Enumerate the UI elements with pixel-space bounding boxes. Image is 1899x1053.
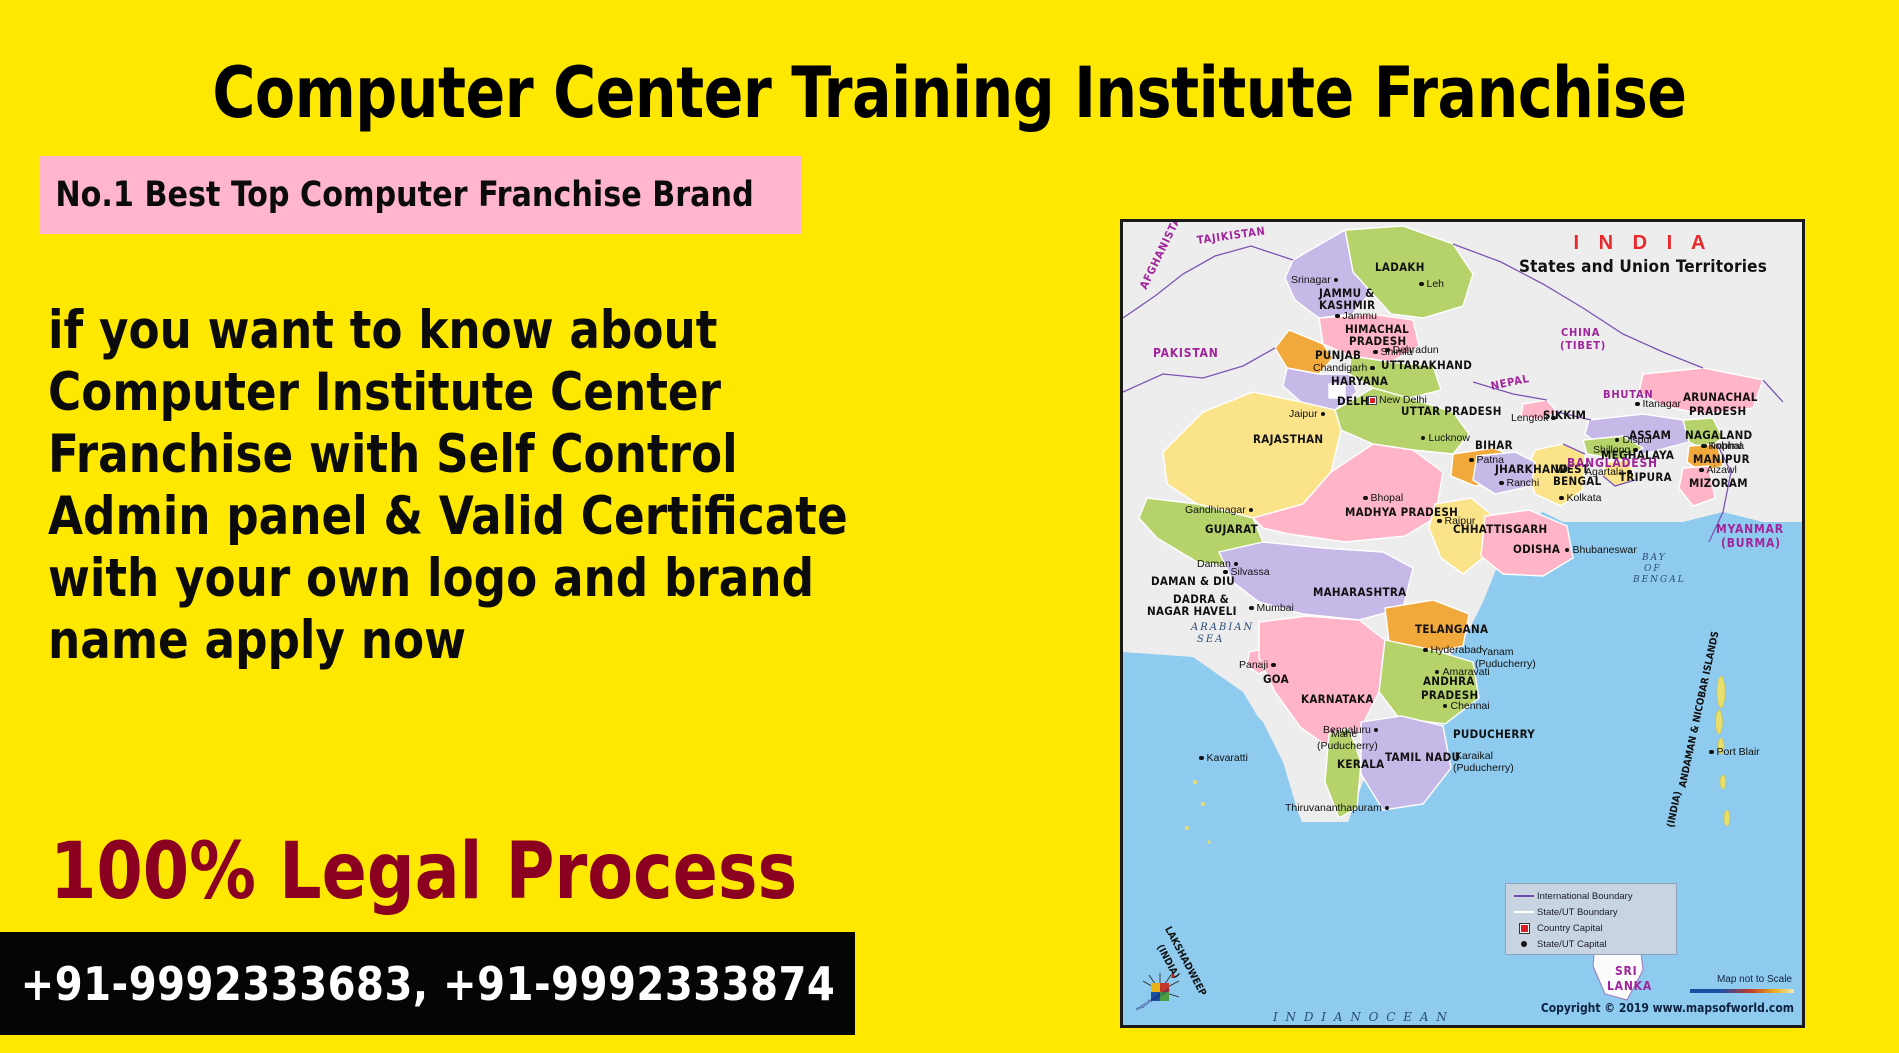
state-ut-capital-marker [1615,438,1620,443]
map-capital-label: Dehradun [1393,344,1439,356]
map-capital-label: Mahe [1331,728,1357,740]
state-ut-capital-marker [1551,416,1556,421]
map-title: I N D I A States and Union Territories [1498,232,1788,277]
map-capital-label: Jammu [1343,310,1377,322]
map-capital-label: Ranchi [1507,477,1540,489]
map-state-label: ODISHA [1513,542,1560,556]
map-capital-label: Kavaratti [1207,752,1248,764]
state-ut-capital-marker [1334,278,1339,283]
map-sea-label: I N D I A N O C E A N [1273,1012,1449,1023]
map-capital: Hyderabad [1423,644,1482,656]
map-capital: Raipur [1437,515,1475,527]
state-ut-capital-marker [1335,314,1340,319]
map-title-subtitle: States and Union Territories [1498,257,1788,277]
map-country-label: PAKISTAN [1153,346,1219,360]
state-ut-capital-marker [1499,481,1504,486]
map-country-label: BHUTAN [1603,388,1654,401]
state-ut-capital-marker [1469,458,1474,463]
state-ut-capital-marker [1435,670,1440,675]
map-state-label: PRADESH [1689,404,1746,418]
legend-label: International Boundary [1537,891,1633,902]
map-capital: Aizawl [1699,464,1737,476]
state-boundary-icon [1511,911,1537,913]
legend-item-international-boundary: International Boundary [1511,888,1671,904]
map-capital-label: Karaikal [1455,750,1493,762]
map-capital: Kavaratti [1199,752,1248,764]
state-ut-capital-marker [1373,350,1378,355]
map-country-label: SRI [1615,964,1638,978]
state-ut-capital-marker [1223,570,1228,575]
state-ut-capital-marker [1423,648,1428,653]
map-state-label: UTTARAKHAND [1381,358,1472,372]
map-capital-label: (Puducherry) [1453,762,1514,774]
map-capital: Srinagar [1291,274,1338,286]
map-sea-label: OF [1644,564,1662,575]
map-legend: International Boundary State/UT Boundary… [1505,883,1677,955]
map-capital: Ranchi [1499,477,1539,489]
map-capital: Mumbai [1249,602,1294,614]
map-capital: Silvassa [1223,566,1270,578]
legend-label: State/UT Boundary [1537,907,1618,918]
map-capital-label: Mumbai [1257,602,1294,614]
map-state-label: PUDUCHERRY [1453,727,1535,741]
map-capital: Kolkata [1559,492,1602,504]
state-ut-capital-marker [1199,756,1204,761]
map-state-label: MAHARASHTRA [1313,585,1406,599]
map-capital-label: Bhubaneswar [1572,544,1636,556]
body-line-1: if you want to know about [48,300,856,362]
international-boundary-icon [1511,895,1537,897]
map-capital-label: Port Blair [1717,746,1760,758]
map-capital: Lucknow [1421,432,1470,444]
map-capital: Bhubaneswar [1565,544,1637,556]
map-capital-label: Chandigarh [1313,362,1367,374]
map-country-label: MYANMAR [1716,522,1784,536]
map-capital: Dehradun [1385,344,1439,356]
map-capital: Gandhinagar [1185,504,1253,516]
map-capital: Yanam [1481,646,1514,658]
map-capital: New Delhi [1369,394,1427,406]
map-sea-label: ARABIAN [1191,622,1254,633]
state-ut-capital-marker [1374,728,1379,733]
map-capital: Mahe [1331,728,1357,740]
map-state-label: BIHAR [1475,438,1513,452]
map-state-label: ARUNACHAL [1683,390,1758,404]
map-state-label: HARYANA [1331,374,1388,388]
map-copyright: Copyright © 2019 www.mapsofworld.com [1541,1001,1794,1015]
map-title-country: I N D I A [1498,232,1788,255]
legal-process-headline: 100% Legal Process [50,832,797,912]
map-state-label: LADAKH [1375,260,1425,274]
map-state-label: NAGAR HAVELI [1147,604,1237,618]
map-capital-label: Kolkata [1567,492,1602,504]
state-ut-capital-marker [1703,444,1708,449]
map-state-label: DELHI [1337,394,1373,408]
state-ut-capital-marker [1627,470,1632,475]
map-capital-label: Leh [1427,278,1445,290]
map-state-label: RAJASTHAN [1253,432,1323,446]
state-ut-capital-marker [1633,448,1638,453]
map-capital-label: Yanam [1481,646,1514,658]
map-capital: (Puducherry) [1317,740,1378,752]
map-capital: (Puducherry) [1453,762,1514,774]
map-capital-label: New Delhi [1379,394,1427,406]
map-capital-label: Srinagar [1291,274,1331,286]
map-country-label: CHINA [1561,326,1600,339]
mapsofworld-logo-icon: mapsofworld.com [1133,967,1187,1015]
body-line-5: with your own logo and brand [48,548,856,610]
legend-label: Country Capital [1537,923,1602,934]
country-capital-icon [1511,924,1537,933]
india-map: I N D I A States and Union Territories L… [1120,219,1805,1028]
state-ut-capital-marker [1385,348,1390,353]
map-capital: Shillong [1593,444,1638,456]
phone-numbers[interactable]: +91-9992333683, +91-9992333874 [20,957,835,1011]
map-capital-label: Aizawl [1707,464,1737,476]
map-capital-label: Lucknow [1428,432,1469,444]
state-capital-icon [1511,941,1537,947]
state-ut-capital-marker [1565,548,1570,553]
state-ut-capital-marker [1370,366,1375,371]
map-country-label: BANGLADESH [1567,456,1658,470]
tagline-banner: No.1 Best Top Computer Franchise Brand [40,156,802,234]
state-ut-capital-marker [1385,806,1390,811]
map-capital: Thiruvananthapuram [1285,802,1389,814]
map-capital-label: Imphal [1710,440,1742,452]
map-capital-label: Hyderabad [1431,644,1482,656]
body-line-3: Franchise with Self Control [48,424,856,486]
map-capital: Karaikal [1455,750,1493,762]
map-capital: Port Blair [1709,746,1760,758]
map-capital-label: Thiruvananthapuram [1285,802,1382,814]
map-capital-label: (Puducherry) [1475,658,1536,670]
map-country-label: LANKA [1607,979,1652,993]
map-canvas: I N D I A States and Union Territories L… [1123,222,1802,1025]
legend-label: State/UT Capital [1537,939,1607,950]
map-capital-label: Silvassa [1231,566,1270,578]
map-state-label: GUJARAT [1205,522,1258,536]
map-state-label: MIZORAM [1689,476,1748,490]
map-state-label: KARNATAKA [1301,692,1374,706]
map-capital-label: Bhopal [1371,492,1404,504]
map-capital: (Puducherry) [1475,658,1536,670]
legend-item-country-capital: Country Capital [1511,920,1671,936]
state-ut-capital-marker [1421,436,1426,441]
tagline-text: No.1 Best Top Computer Franchise Brand [40,175,754,215]
map-state-label: KERALA [1337,757,1384,771]
map-state-label: JHARKHAND [1495,462,1568,476]
legend-item-state-boundary: State/UT Boundary [1511,904,1671,920]
map-country-label: (TIBET) [1560,339,1606,352]
map-state-label: GOA [1263,672,1289,686]
map-scale-note: Map not to Scale [1717,974,1792,985]
body-copy: if you want to know about Computer Insti… [48,300,856,672]
map-capital-label: Shillong [1593,444,1630,456]
map-capital: Jaipur [1289,408,1325,420]
map-sea-label: BENGAL [1633,575,1686,586]
state-ut-capital-marker [1559,496,1564,501]
map-state-label: PUNJAB [1315,348,1361,362]
map-capital-label: (Puducherry) [1317,740,1378,752]
map-capital: Jammu [1335,310,1377,322]
state-ut-capital-marker [1321,412,1326,417]
map-capital: Imphal [1703,440,1742,452]
map-capital-label: Chennai [1450,700,1489,712]
map-state-label: UTTAR PRADESH [1401,404,1502,418]
map-capital: Leh [1419,278,1444,290]
state-ut-capital-marker [1271,663,1276,668]
map-capital: Patna [1469,454,1504,466]
map-sea-label: SEA [1197,634,1224,645]
map-country-label: (BURMA) [1721,536,1781,550]
body-line-4: Admin panel & Valid Certificate [48,486,856,548]
state-ut-capital-marker [1443,704,1448,709]
map-capital: Chennai [1443,700,1490,712]
legend-item-state-capital: State/UT Capital [1511,936,1671,952]
map-capital-label: Jaipur [1289,408,1318,420]
map-state-label: TAMIL NADU [1385,750,1460,764]
state-ut-capital-marker [1249,606,1254,611]
state-ut-capital-marker [1699,468,1704,473]
map-capital-label: Patna [1477,454,1504,466]
page-title: Computer Center Training Institute Franc… [66,54,1832,132]
state-ut-capital-marker [1437,519,1442,524]
state-ut-capital-marker [1363,496,1368,501]
map-capital-label: Lengtok [1511,412,1548,424]
map-scale-bar [1690,989,1794,993]
map-capital: Bhopal [1363,492,1403,504]
body-line-2: Computer Institute Center [48,362,856,424]
map-capital-label: Panaji [1239,659,1268,671]
state-ut-capital-marker [1709,750,1714,755]
state-ut-capital-marker [1419,282,1424,287]
map-capital-label: Raipur [1445,515,1476,527]
poster-canvas: Computer Center Training Institute Franc… [0,0,1899,1053]
map-sea-label: BAY [1642,553,1667,564]
map-capital: Panaji [1239,659,1276,671]
state-ut-capital-marker [1635,402,1640,407]
state-ut-capital-marker [1249,508,1254,513]
map-capital: Lengtok [1511,412,1556,424]
contact-phone-bar[interactable]: +91-9992333683, +91-9992333874 [0,932,855,1035]
map-capital-label: Gandhinagar [1185,504,1246,516]
map-capital: Chandigarh [1313,362,1375,374]
country-capital-marker [1369,397,1376,404]
map-state-label: TELANGANA [1415,622,1488,636]
body-line-6: name apply now [48,610,856,672]
